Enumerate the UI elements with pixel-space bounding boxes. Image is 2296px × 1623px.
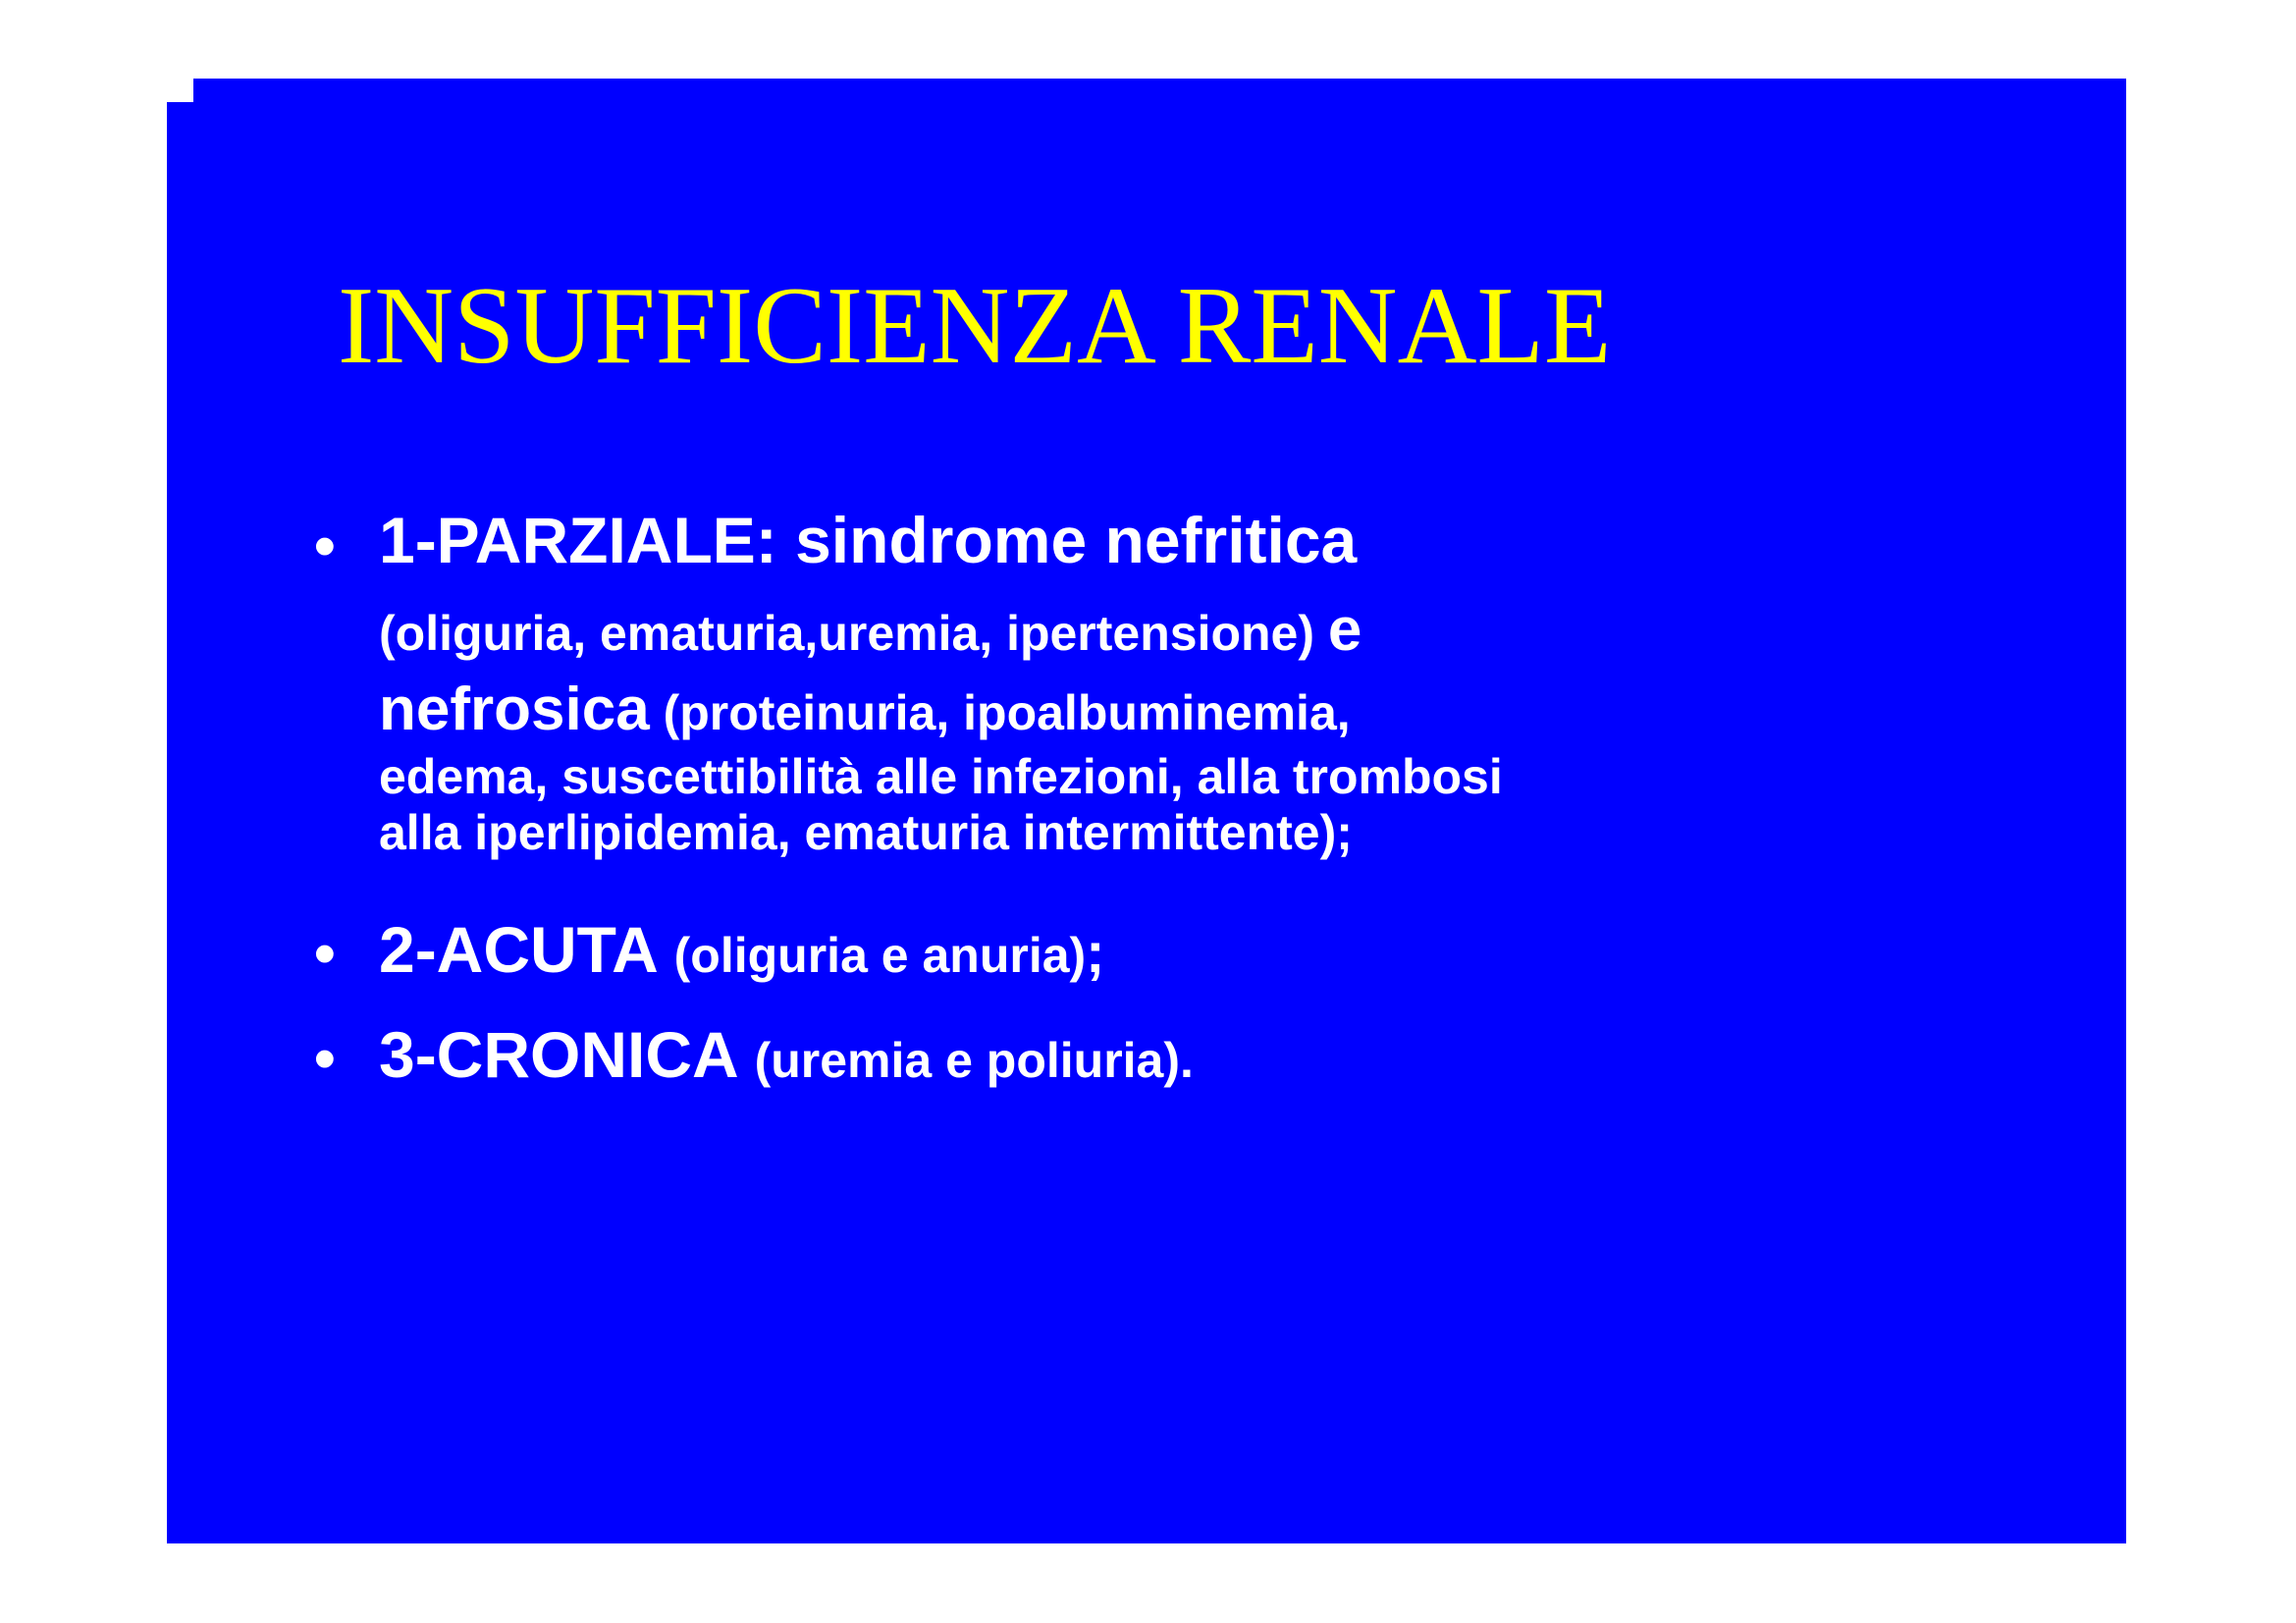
list-item-cronica-body: 3-CRONICA (uremia e poliuria). [379,1019,2087,1091]
detail-word-nefrosica: nefrosica [379,676,650,743]
bullet-dot-icon: • [314,507,379,577]
slide-content-body: • 1-PARZIALE: sindrome nefritica (oligur… [167,507,2126,1090]
list-item-acuta-terminator: ; [1086,921,1104,985]
list-item-parziale: • 1-PARZIALE: sindrome nefritica (oligur… [314,507,2087,861]
bullet-dot-icon: • [314,914,379,985]
list-item-acuta-heading: 2-ACUTA [379,913,656,986]
detail-conjunction-e: e [1328,596,1362,664]
list-item-parziale-heading: 1-PARZIALE: sindrome nefritica [379,507,2087,575]
list-item-parziale-detail: (oliguria, ematuria,uremia, ipertensione… [379,591,2087,861]
list-item-acuta-body: 2-ACUTA (oliguria e anuria); [379,914,2087,986]
list-item-cronica-heading: 3-CRONICA [379,1018,736,1091]
list-item-cronica-detail: (uremia e poliuria). [755,1033,1194,1088]
list-item-parziale-body: 1-PARZIALE: sindrome nefritica (oliguria… [379,507,2087,861]
bullet-dot-icon: • [314,1019,379,1090]
list-item-acuta: • 2-ACUTA (oliguria e anuria); [314,914,2087,986]
slide-page: INSUFFICIENZA RENALE • 1-PARZIALE: sindr… [0,0,2296,1623]
detail-line-3: (proteinuria, ipoalbuminemia, [664,685,1351,740]
detail-line-4: edema, suscettibilità alle infezioni, al… [379,749,2087,805]
list-item-cronica: • 3-CRONICA (uremia e poliuria). [314,1019,2087,1091]
detail-line-1: (oliguria, ematuria,uremia, ipertensione… [379,606,1314,661]
list-item-acuta-detail: (oliguria e anuria) [674,928,1087,983]
detail-line-5: alla iperlipidemia, ematuria intermitten… [379,805,2087,861]
page-title: INSUFFICIENZA RENALE [167,267,2126,386]
